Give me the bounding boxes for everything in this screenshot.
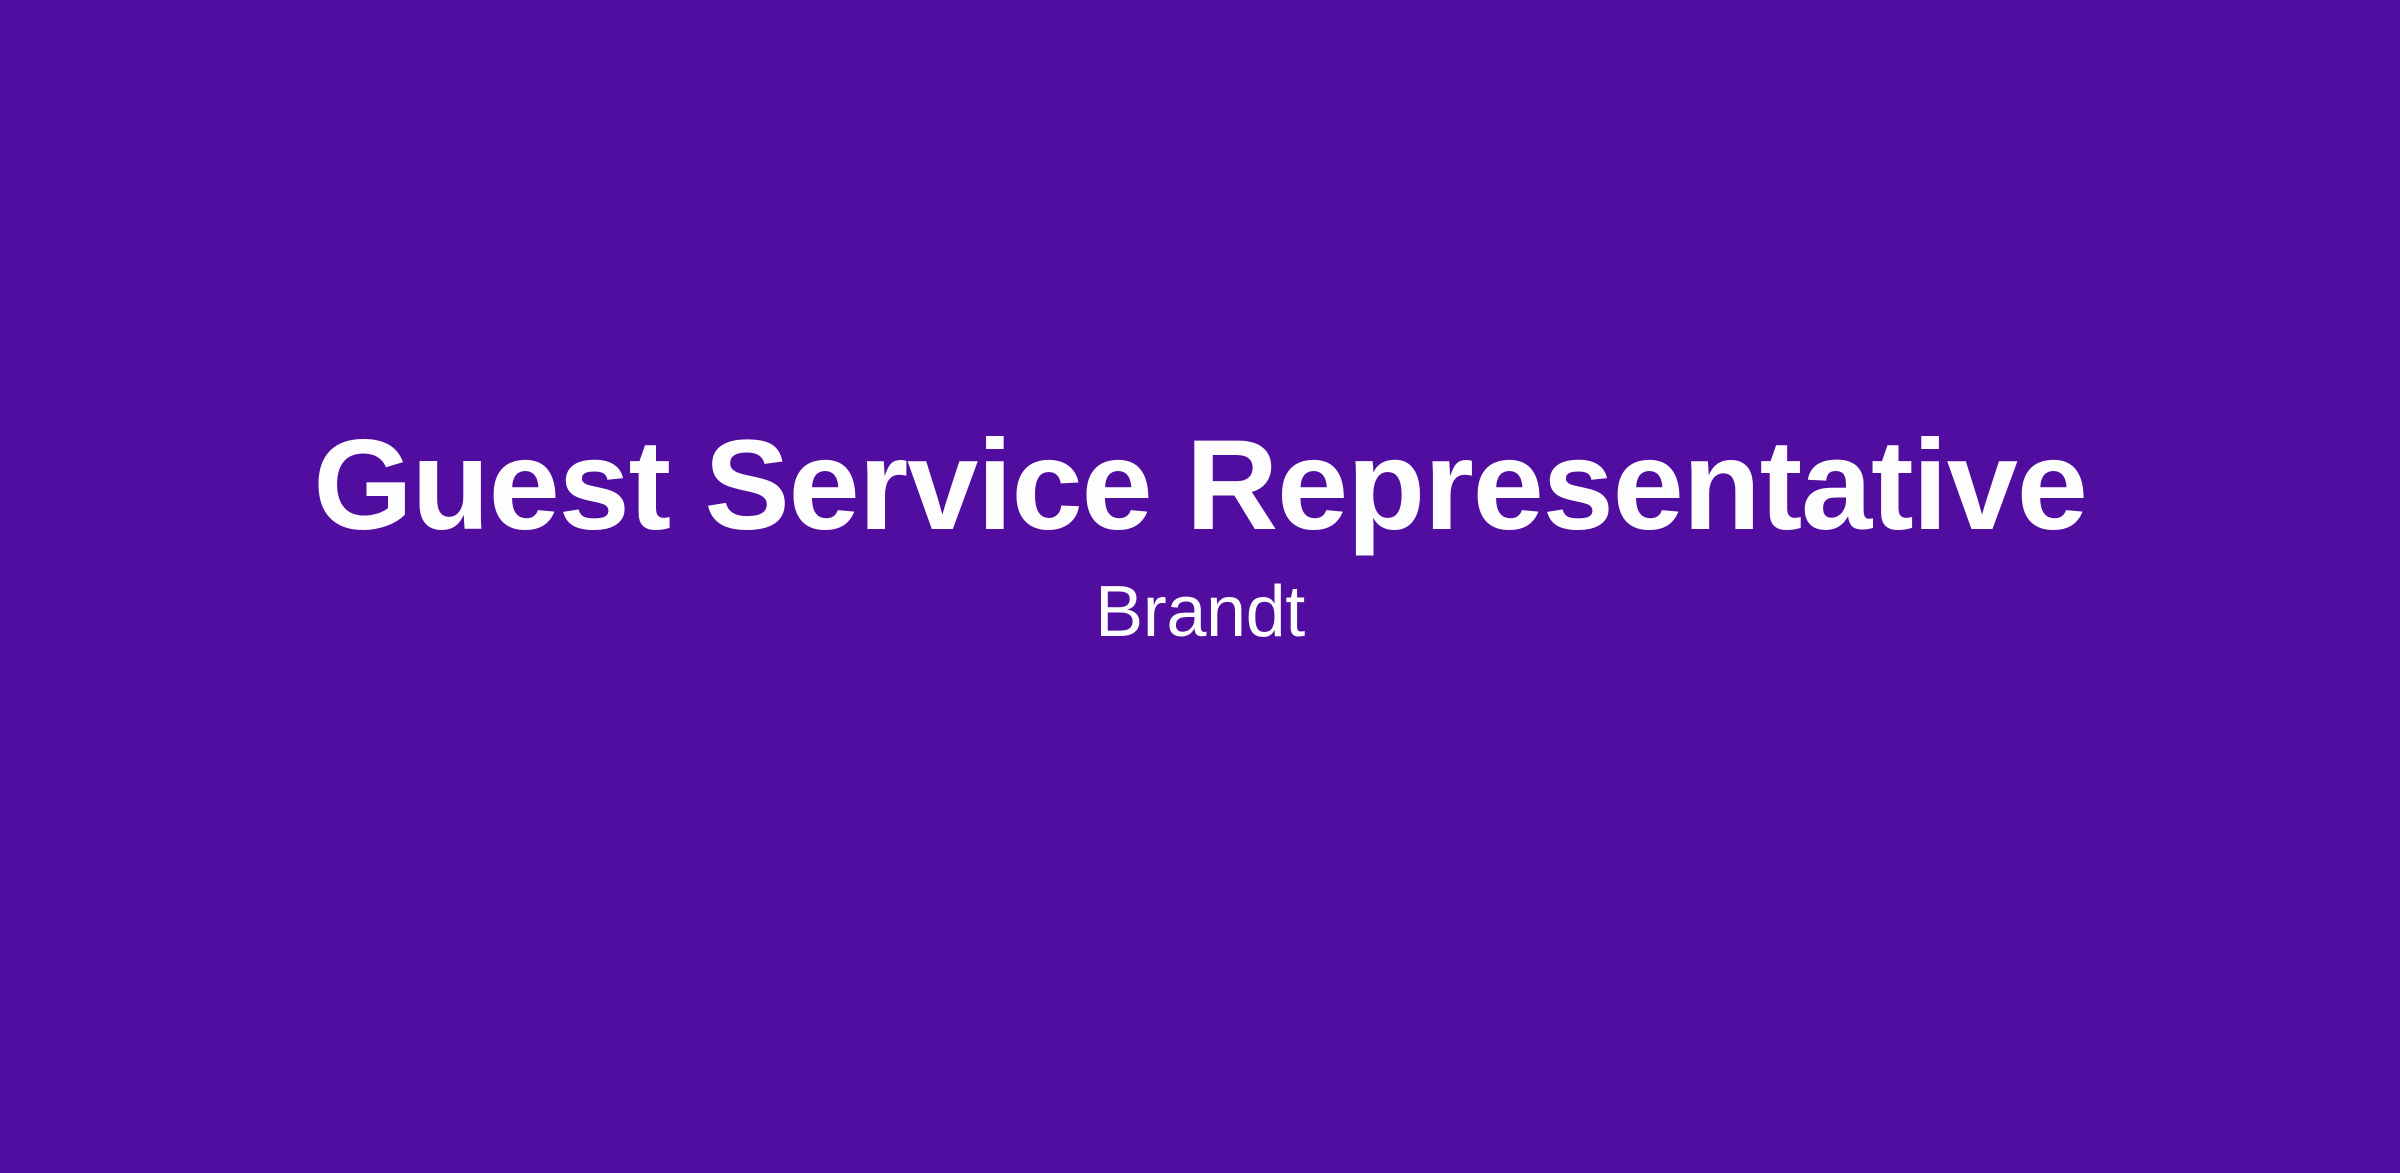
title-block: Guest Service Representative Brandt (313, 414, 2087, 655)
page-title: Guest Service Representative (313, 414, 2087, 557)
title-card: Guest Service Representative Brandt (0, 0, 2400, 1173)
page-subtitle: Brandt (1095, 571, 1305, 655)
